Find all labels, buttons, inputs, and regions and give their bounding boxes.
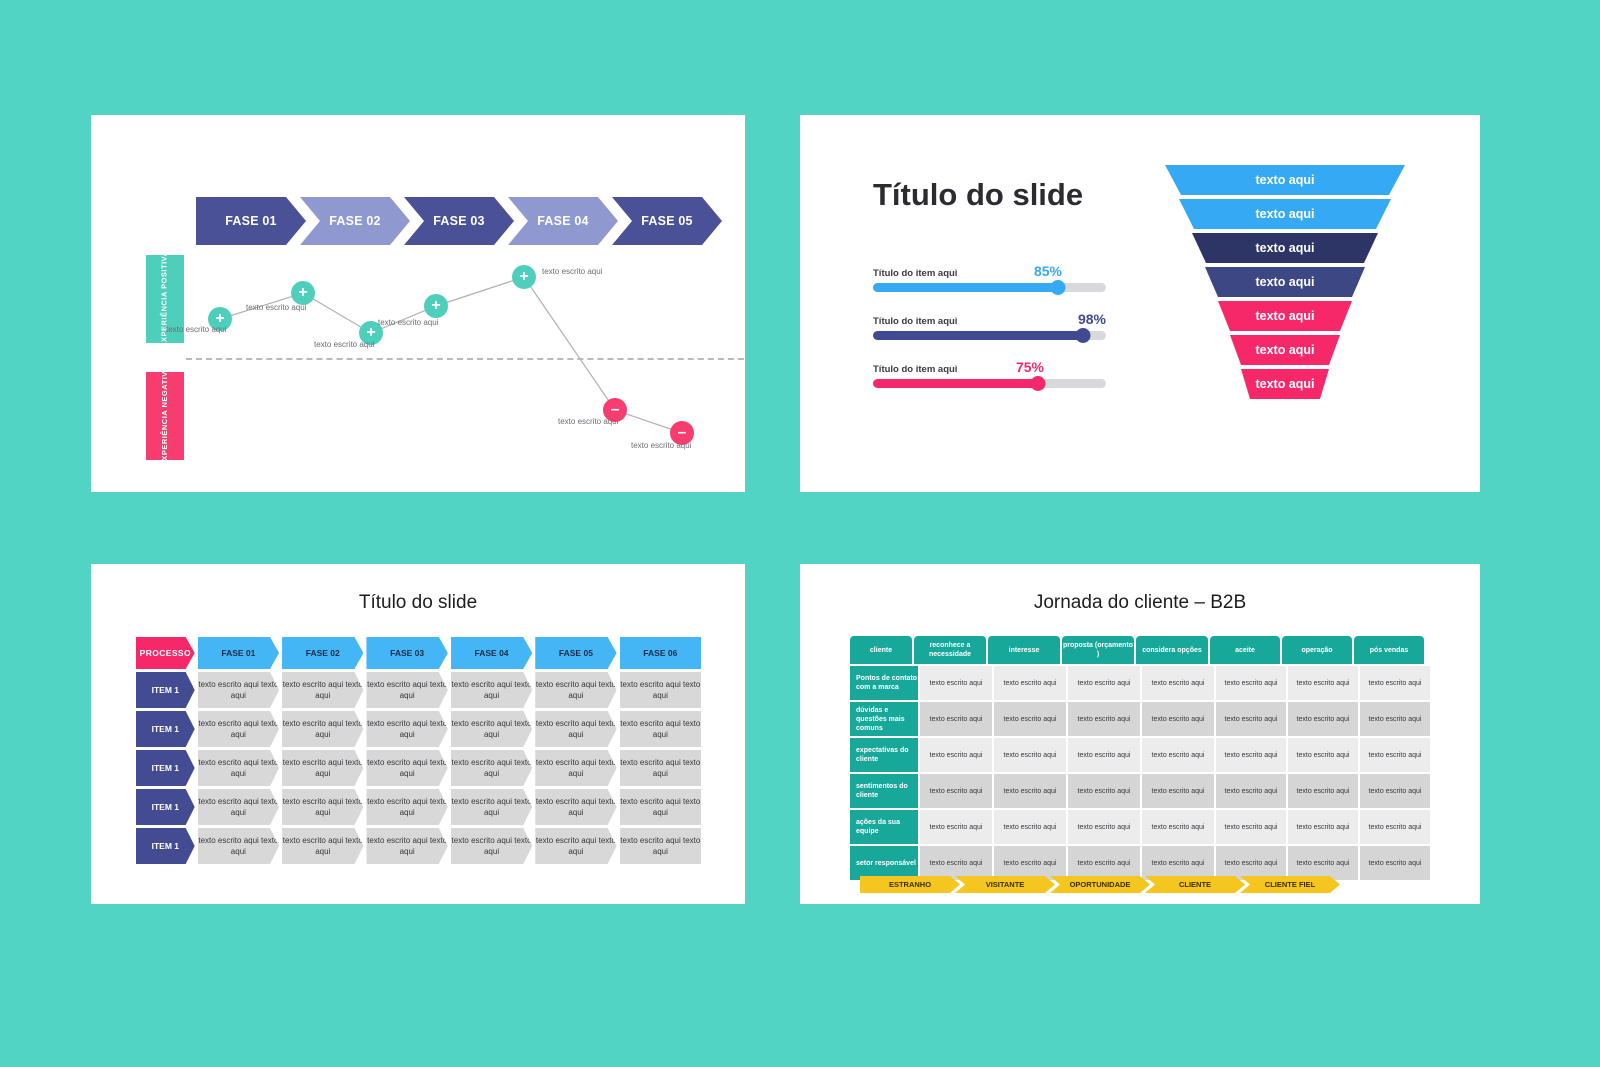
phase-arrow-bar: FASE 01FASE 02FASE 03FASE 04FASE 05 <box>196 197 716 245</box>
table-header-row: PROCESSOFASE 01FASE 02FASE 03FASE 04FASE… <box>136 637 701 669</box>
funnel-layer-label: texto aqui <box>1255 377 1314 391</box>
table-row: sentimentos do clientetexto escrito aqui… <box>850 774 1440 808</box>
b2b-journey-table: clientereconhece a necessidadeinteressep… <box>850 636 1440 882</box>
page-title: Jornada do cliente – B2B <box>800 592 1480 614</box>
funnel-layer-label: texto aqui <box>1255 309 1314 323</box>
b2b-header-6[interactable]: operação <box>1282 636 1352 664</box>
table-cell[interactable]: texto escrito aqui <box>1216 774 1286 808</box>
table-cell[interactable]: texto escrito aqui <box>920 810 992 844</box>
journey-node-label-5: texto escrito aqui <box>542 267 602 276</box>
row-label[interactable]: ITEM 1 <box>136 750 195 786</box>
stage-chip-2[interactable]: VISITANTE <box>955 876 1055 893</box>
phase-chevron-2[interactable]: FASE 02 <box>300 197 410 245</box>
slider-track[interactable] <box>873 379 1106 388</box>
phase-chevron-4[interactable]: FASE 04 <box>508 197 618 245</box>
b2b-row-label[interactable]: expectativas do cliente <box>850 738 918 772</box>
table-cell[interactable]: texto escrito aqui <box>994 810 1066 844</box>
funnel-chart: texto aquitexto aquitexto aquitexto aqui… <box>1140 165 1430 445</box>
funnel-layer-1[interactable]: texto aqui <box>1165 165 1405 195</box>
journey-node-label-4: texto escrito aqui <box>378 318 438 327</box>
journey-node-label-6: texto escrito aqui <box>558 417 618 426</box>
table-cell[interactable]: texto escrito aqui texto aqui <box>535 711 616 747</box>
b2b-row-label[interactable]: sentimentos do cliente <box>850 774 918 808</box>
journey-node-2[interactable]: + <box>291 281 315 305</box>
table-cell[interactable]: texto escrito aqui <box>920 666 992 700</box>
table-cell[interactable]: texto escrito aqui texto aqui <box>451 750 532 786</box>
slider-label: Título do item aqui <box>873 364 957 375</box>
table-cell[interactable]: texto escrito aqui texto aqui <box>451 828 532 864</box>
slider-percent: 85% <box>1034 263 1062 279</box>
slider-knob[interactable] <box>1051 280 1066 295</box>
phase-chevron-label: FASE 01 <box>225 214 276 228</box>
table-cell[interactable]: texto escrito aqui <box>1360 702 1430 736</box>
table-row: Pontos de contato com a marcatexto escri… <box>850 666 1440 700</box>
slider-track[interactable] <box>873 283 1106 292</box>
table-cell[interactable]: texto escrito aqui texto aqui <box>282 828 363 864</box>
header-fase-4[interactable]: FASE 04 <box>451 637 532 669</box>
slide-funnel-sliders: Título do slide Título do item aqui85%Tí… <box>800 115 1480 492</box>
table-cell[interactable]: texto escrito aqui <box>1288 846 1358 880</box>
table-cell[interactable]: texto escrito aqui texto aqui <box>198 711 279 747</box>
table-cell[interactable]: texto escrito aqui texto aqui <box>282 789 363 825</box>
table-cell[interactable]: texto escrito aqui texto aqui <box>282 750 363 786</box>
table-cell[interactable]: texto escrito aqui <box>1288 666 1358 700</box>
table-cell[interactable]: texto escrito aqui <box>1068 774 1140 808</box>
phase-chevron-label: FASE 02 <box>329 214 380 228</box>
table-cell[interactable]: texto escrito aqui texto aqui <box>620 789 701 825</box>
stage-banner: ESTRANHOVISITANTEOPORTUNIDADECLIENTECLIE… <box>860 876 1335 893</box>
row-label[interactable]: ITEM 1 <box>136 828 195 864</box>
page-title: Título do slide <box>91 592 745 614</box>
table-cell[interactable]: texto escrito aqui <box>1360 666 1430 700</box>
funnel-layer-4[interactable]: texto aqui <box>1205 267 1365 297</box>
b2b-header-1[interactable]: reconhece a necessidade <box>914 636 986 664</box>
table-cell[interactable]: texto escrito aqui texto aqui <box>535 672 616 708</box>
journey-node-label-1: texto escrito aqui <box>166 325 226 334</box>
funnel-layer-label: texto aqui <box>1255 343 1314 357</box>
b2b-row-label[interactable]: dúvidas e questões mais comuns <box>850 702 918 736</box>
neutral-axis-divider <box>186 358 745 360</box>
slider-label: Título do item aqui <box>873 268 957 279</box>
table-cell[interactable]: texto escrito aqui <box>1216 738 1286 772</box>
header-processo[interactable]: PROCESSO <box>136 637 195 669</box>
table-cell[interactable]: texto escrito aqui texto aqui <box>620 828 701 864</box>
table-row: ITEM 1texto escrito aqui texto aquitexto… <box>136 828 701 864</box>
table-cell[interactable]: texto escrito aqui texto aqui <box>366 789 447 825</box>
table-cell[interactable]: texto escrito aqui <box>1360 810 1430 844</box>
phase-chevron-5[interactable]: FASE 05 <box>612 197 722 245</box>
table-row: ITEM 1texto escrito aqui texto aquitexto… <box>136 711 701 747</box>
table-cell[interactable]: texto escrito aqui <box>1068 702 1140 736</box>
table-cell[interactable]: texto escrito aqui texto aqui <box>282 672 363 708</box>
table-cell[interactable]: texto escrito aqui texto aqui <box>620 711 701 747</box>
page-title: Título do slide <box>873 177 1083 213</box>
b2b-header-2[interactable]: interesse <box>988 636 1060 664</box>
table-cell[interactable]: texto escrito aqui texto aqui <box>198 672 279 708</box>
table-cell[interactable]: texto escrito aqui <box>920 702 992 736</box>
table-cell[interactable]: texto escrito aqui <box>1068 666 1140 700</box>
table-row: ações da sua equipetexto escrito aquitex… <box>850 810 1440 844</box>
table-row: setor responsáveltexto escrito aquitexto… <box>850 846 1440 880</box>
table-cell[interactable]: texto escrito aqui <box>1288 810 1358 844</box>
table-cell[interactable]: texto escrito aqui <box>1288 702 1358 736</box>
table-cell[interactable]: texto escrito aqui <box>994 666 1066 700</box>
journey-node-label-3: texto escrito aqui <box>314 340 374 349</box>
table-cell[interactable]: texto escrito aqui <box>1142 702 1214 736</box>
header-fase-3[interactable]: FASE 03 <box>366 637 447 669</box>
funnel-layer-label: texto aqui <box>1255 207 1314 221</box>
table-cell[interactable]: texto escrito aqui <box>1142 810 1214 844</box>
table-row: dúvidas e questões mais comunstexto escr… <box>850 702 1440 736</box>
phase-chevron-1[interactable]: FASE 01 <box>196 197 306 245</box>
table-cell[interactable]: texto escrito aqui texto aqui <box>366 750 447 786</box>
table-cell[interactable]: texto escrito aqui <box>920 774 992 808</box>
funnel-layer-6[interactable]: texto aqui <box>1230 335 1340 365</box>
table-cell[interactable]: texto escrito aqui <box>994 774 1066 808</box>
b2b-row-label[interactable]: ações da sua equipe <box>850 810 918 844</box>
table-cell[interactable]: texto escrito aqui texto aqui <box>198 828 279 864</box>
table-cell[interactable]: texto escrito aqui texto aqui <box>535 789 616 825</box>
table-cell[interactable]: texto escrito aqui texto aqui <box>282 711 363 747</box>
table-cell[interactable]: texto escrito aqui <box>1360 774 1430 808</box>
phase-chevron-label: FASE 05 <box>641 214 692 228</box>
slider-percent: 98% <box>1078 311 1106 327</box>
row-label[interactable]: ITEM 1 <box>136 672 195 708</box>
header-fase-6[interactable]: FASE 06 <box>620 637 701 669</box>
slider-track[interactable] <box>873 331 1106 340</box>
table-cell[interactable]: texto escrito aqui <box>920 846 992 880</box>
funnel-layer-3[interactable]: texto aqui <box>1192 233 1378 263</box>
phase-chevron-label: FASE 03 <box>433 214 484 228</box>
table-cell[interactable]: texto escrito aqui <box>920 738 992 772</box>
table-row: ITEM 1texto escrito aqui texto aquitexto… <box>136 750 701 786</box>
funnel-layer-7[interactable]: texto aqui <box>1241 369 1329 399</box>
stage-chip-4[interactable]: CLIENTE <box>1145 876 1245 893</box>
stage-chip-3[interactable]: OPORTUNIDADE <box>1050 876 1150 893</box>
slide-jornada-b2b: Jornada do cliente – B2B clientereconhec… <box>800 564 1480 904</box>
table-header-row: clientereconhece a necessidadeinteressep… <box>850 636 1440 664</box>
table-cell[interactable]: texto escrito aqui <box>1360 846 1430 880</box>
funnel-layer-5[interactable]: texto aqui <box>1218 301 1352 331</box>
table-cell[interactable]: texto escrito aqui texto aqui <box>535 750 616 786</box>
table-cell[interactable]: texto escrito aqui texto aqui <box>535 828 616 864</box>
table-row: ITEM 1texto escrito aqui texto aquitexto… <box>136 672 701 708</box>
slider-fill <box>873 379 1038 388</box>
journey-node-label-7: texto escrito aqui <box>631 441 691 450</box>
b2b-header-3[interactable]: proposta (orçamento ) <box>1062 636 1134 664</box>
slider-3[interactable]: Título do item aqui75% <box>873 359 1106 388</box>
journey-node-5[interactable]: + <box>512 265 536 289</box>
journey-node-label-2: texto escrito aqui <box>246 303 306 312</box>
table-cell[interactable]: texto escrito aqui texto aqui <box>451 789 532 825</box>
stage-chip-1[interactable]: ESTRANHO <box>860 876 960 893</box>
slide-journey-map: FASE 01FASE 02FASE 03FASE 04FASE 05 EXPE… <box>91 115 745 492</box>
stage-chip-5[interactable]: CLIENTE FIEL <box>1240 876 1340 893</box>
phase-chevron-3[interactable]: FASE 03 <box>404 197 514 245</box>
table-cell[interactable]: texto escrito aqui <box>994 846 1066 880</box>
table-cell[interactable]: texto escrito aqui <box>1216 846 1286 880</box>
b2b-header-5[interactable]: aceite <box>1210 636 1280 664</box>
funnel-layer-label: texto aqui <box>1255 241 1314 255</box>
funnel-layer-label: texto aqui <box>1255 173 1314 187</box>
table-cell[interactable]: texto escrito aqui texto aqui <box>451 711 532 747</box>
table-cell[interactable]: texto escrito aqui texto aqui <box>366 711 447 747</box>
table-cell[interactable]: texto escrito aqui <box>1216 810 1286 844</box>
table-cell[interactable]: texto escrito aqui <box>1142 774 1214 808</box>
row-label[interactable]: ITEM 1 <box>136 789 195 825</box>
slider-knob[interactable] <box>1031 376 1046 391</box>
slider-1[interactable]: Título do item aqui85% <box>873 263 1106 292</box>
slide-processo-table: Título do slide PROCESSOFASE 01FASE 02FA… <box>91 564 745 904</box>
table-cell[interactable]: texto escrito aqui texto aqui <box>451 672 532 708</box>
slider-fill <box>873 283 1058 292</box>
table-cell[interactable]: texto escrito aqui <box>1216 702 1286 736</box>
slider-knob[interactable] <box>1076 328 1091 343</box>
b2b-row-label[interactable]: Pontos de contato com a marca <box>850 666 918 700</box>
slider-fill <box>873 331 1083 340</box>
slider-2[interactable]: Título do item aqui98% <box>873 311 1106 340</box>
table-cell[interactable]: texto escrito aqui <box>1068 810 1140 844</box>
table-cell[interactable]: texto escrito aqui <box>1216 666 1286 700</box>
journey-node-4[interactable]: + <box>424 294 448 318</box>
table-cell[interactable]: texto escrito aqui texto aqui <box>620 750 701 786</box>
table-cell[interactable]: texto escrito aqui <box>994 738 1066 772</box>
b2b-header-0[interactable]: cliente <box>850 636 912 664</box>
table-cell[interactable]: texto escrito aqui <box>1142 738 1214 772</box>
table-cell[interactable]: texto escrito aqui <box>994 702 1066 736</box>
table-cell[interactable]: texto escrito aqui <box>1288 738 1358 772</box>
b2b-row-label[interactable]: setor responsável <box>850 846 918 880</box>
slider-label: Título do item aqui <box>873 316 957 327</box>
funnel-layer-2[interactable]: texto aqui <box>1179 199 1391 229</box>
slider-percent: 75% <box>1016 359 1044 375</box>
table-cell[interactable]: texto escrito aqui texto aqui <box>198 789 279 825</box>
phase-chevron-label: FASE 04 <box>537 214 588 228</box>
table-cell[interactable]: texto escrito aqui <box>1142 846 1214 880</box>
table-cell[interactable]: texto escrito aqui texto aqui <box>620 672 701 708</box>
journey-line-chart: +texto escrito aqui+texto escrito aqui+t… <box>146 245 726 475</box>
table-cell[interactable]: texto escrito aqui <box>1360 738 1430 772</box>
table-cell[interactable]: texto escrito aqui texto aqui <box>198 750 279 786</box>
table-cell[interactable]: texto escrito aqui <box>1142 666 1214 700</box>
table-cell[interactable]: texto escrito aqui <box>1068 846 1140 880</box>
row-label[interactable]: ITEM 1 <box>136 711 195 747</box>
header-fase-5[interactable]: FASE 05 <box>535 637 616 669</box>
table-cell[interactable]: texto escrito aqui <box>1288 774 1358 808</box>
header-fase-2[interactable]: FASE 02 <box>282 637 363 669</box>
b2b-header-7[interactable]: pós vendas <box>1354 636 1424 664</box>
table-row: ITEM 1texto escrito aqui texto aquitexto… <box>136 789 701 825</box>
table-cell[interactable]: texto escrito aqui <box>1068 738 1140 772</box>
table-cell[interactable]: texto escrito aqui texto aqui <box>366 672 447 708</box>
b2b-header-4[interactable]: considera opções <box>1136 636 1208 664</box>
table-cell[interactable]: texto escrito aqui texto aqui <box>366 828 447 864</box>
processo-table: PROCESSOFASE 01FASE 02FASE 03FASE 04FASE… <box>136 637 701 867</box>
funnel-layer-label: texto aqui <box>1255 275 1314 289</box>
header-fase-1[interactable]: FASE 01 <box>198 637 279 669</box>
table-row: expectativas do clientetexto escrito aqu… <box>850 738 1440 772</box>
